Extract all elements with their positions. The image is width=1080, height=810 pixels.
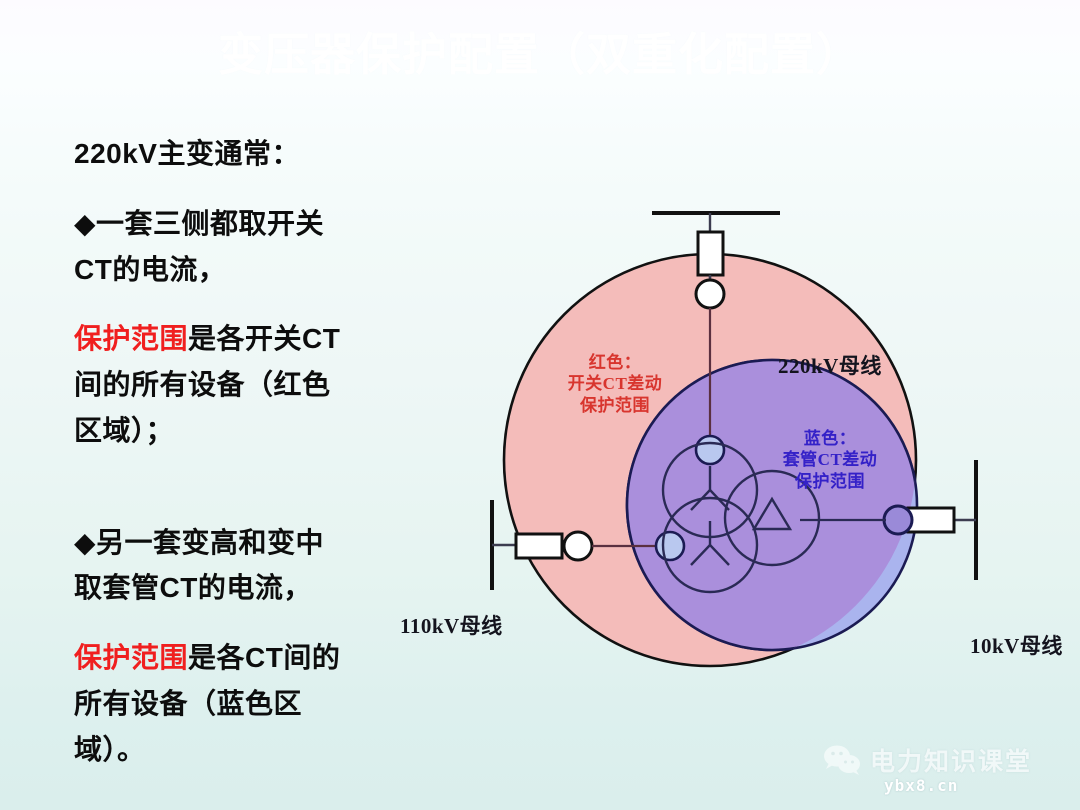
bullet-marker-1: ◆ [74, 208, 96, 239]
circuit-breaker-10kv [884, 506, 912, 534]
blue-zone-line-1: 蓝色： [760, 428, 900, 449]
slide-canvas: 变压器保护配置（双重化配置） 220kV主变通常： ◆一套三侧都取开关 CT的电… [0, 0, 1080, 810]
scope-2-rest-3: 域）。 [74, 730, 404, 770]
circuit-breaker-220kv [696, 280, 724, 308]
spacer [74, 457, 404, 499]
scope-1-rest-2: 间的所有设备（红色 [74, 365, 404, 405]
scope-2-rest-2: 所有设备（蓝色区 [74, 684, 404, 724]
bullet-2-text-1: 另一套变高和变中 [96, 527, 324, 558]
scope-1-rest-3: 区域）； [74, 411, 404, 451]
label-blue-protection-zone: 蓝色： 套管CT差动 保护范围 [760, 428, 900, 492]
spacer [74, 295, 404, 319]
bullet-marker-2: ◆ [74, 527, 96, 558]
bushing-ct-mid-side [656, 532, 684, 560]
watermark: 电力知识课堂 [822, 742, 1032, 778]
spacer [74, 180, 404, 204]
spacer [74, 614, 404, 638]
single-line-diagram: 220kV母线 110kV母线 10kV母线 红色： 开关CT差动 保护范围 蓝… [380, 160, 1080, 720]
label-busbar-110kv: 110kV母线 [400, 610, 503, 640]
bullet-block-2-line-2: 取套管CT的电流， [74, 568, 404, 608]
emphasis-protection-scope-1: 保护范围 [74, 323, 188, 354]
ct-symbol-10kv [908, 508, 954, 532]
ct-symbol-110kv [516, 534, 562, 558]
scope-2-rest-1: 是各CT间的 [188, 642, 340, 673]
label-busbar-220kv: 220kV母线 [778, 350, 882, 380]
text-heading: 220kV主变通常： [74, 134, 404, 174]
blue-zone-line-2: 套管CT差动 [760, 449, 900, 470]
bullet-block-1-line-2: CT的电流， [74, 250, 404, 290]
circuit-breaker-110kv [564, 532, 592, 560]
scope-statement-1: 保护范围是各开关CT [74, 319, 404, 359]
label-red-protection-zone: 红色： 开关CT差动 保护范围 [545, 352, 685, 416]
bullet-1-text-1: 一套三侧都取开关 [96, 208, 324, 239]
scope-1-rest-1: 是各开关CT [188, 323, 340, 354]
bushing-ct-high-side [696, 436, 724, 464]
bullet-block-2-line-1: ◆另一套变高和变中 [74, 523, 404, 563]
red-zone-line-1: 红色： [545, 352, 685, 373]
page-title: 变压器保护配置（双重化配置） [0, 28, 1080, 81]
scope-statement-2: 保护范围是各CT间的 [74, 638, 404, 678]
bullet-block-1-line-1: ◆一套三侧都取开关 [74, 204, 404, 244]
watermark-name: 电力知识课堂 [870, 742, 1032, 778]
red-zone-line-2: 开关CT差动 [545, 373, 685, 394]
ct-symbol-220kv [698, 232, 723, 275]
spacer [74, 499, 404, 523]
label-busbar-10kv: 10kV母线 [970, 630, 1063, 660]
watermark-url: ybx8.cn [884, 776, 958, 795]
red-zone-line-3: 保护范围 [545, 395, 685, 416]
text-column: 220kV主变通常： ◆一套三侧都取开关 CT的电流， 保护范围是各开关CT 间… [74, 134, 404, 775]
blue-zone-line-3: 保护范围 [760, 471, 900, 492]
wechat-icon [822, 743, 862, 777]
emphasis-protection-scope-2: 保护范围 [74, 642, 188, 673]
